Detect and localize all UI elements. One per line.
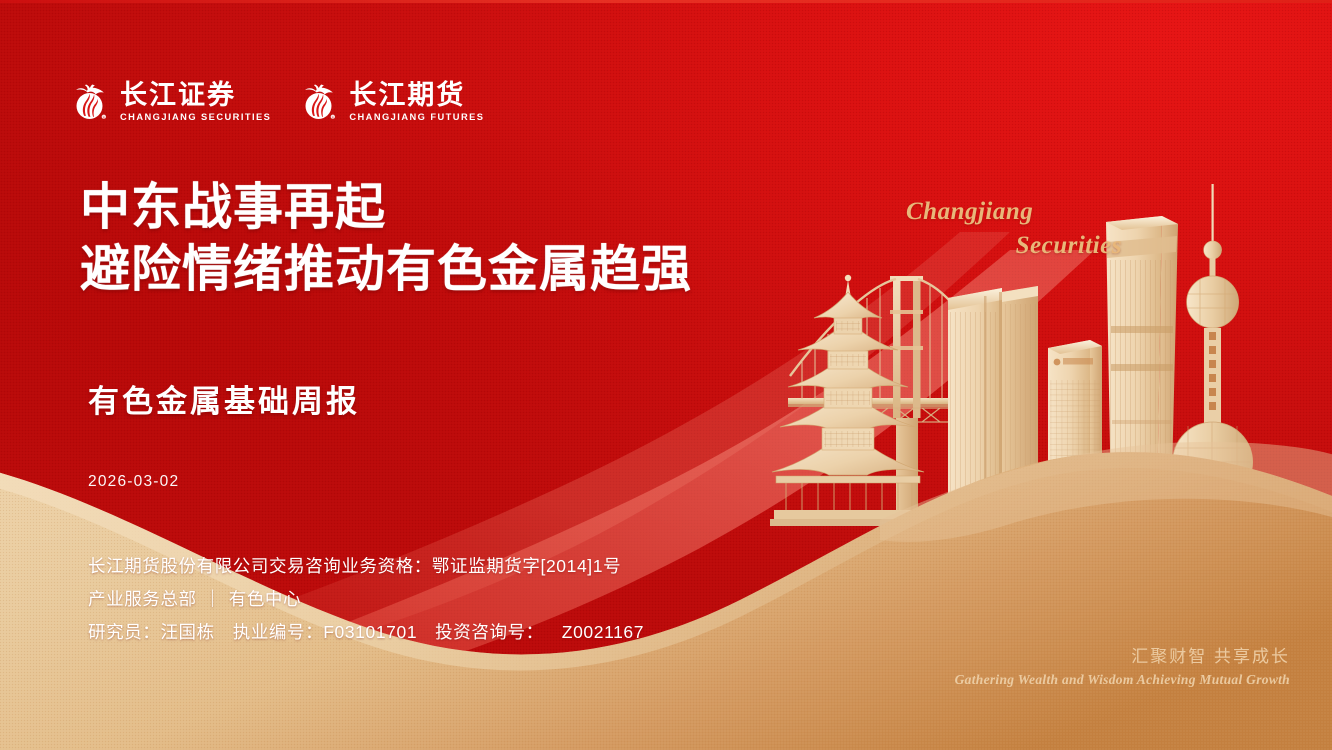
meta-center: 有色中心 bbox=[229, 589, 301, 609]
logo-name-cn: 长江期货 bbox=[349, 81, 484, 109]
svg-text:R: R bbox=[332, 116, 334, 120]
meta-license-no: F03101701 bbox=[323, 622, 417, 642]
meta-consult-no: Z0021167 bbox=[562, 622, 644, 642]
meta-separator: ｜ bbox=[197, 589, 229, 609]
logo-name-en: CHANGJIANG SECURITIES bbox=[120, 112, 271, 122]
tagline-cn: 汇聚财智 共享成长 bbox=[870, 645, 1290, 669]
title-line-1: 中东战事再起 bbox=[80, 176, 910, 238]
meta-researcher-line: 研究员：汪国栋执业编号：F03101701投资咨询号：Z0021167 bbox=[88, 616, 848, 649]
logo-name-cn: 长江证券 bbox=[120, 81, 271, 109]
report-subtitle: 有色金属基础周报 bbox=[88, 376, 360, 421]
logo-text-block: 长江证券 CHANGJIANG SECURITIES bbox=[120, 81, 271, 123]
meta-department-line: 产业服务总部｜有色中心 bbox=[88, 583, 848, 616]
changjiang-securities-script-brand: Changjiang Securities bbox=[900, 195, 1130, 261]
title-line-2: 避险情绪推动有色金属趋强 bbox=[80, 238, 910, 300]
report-meta-block: 长江期货股份有限公司交易咨询业务资格：鄂证监期货字[2014]1号 产业服务总部… bbox=[88, 550, 848, 649]
meta-qualification-text: 长江期货股份有限公司交易咨询业务资格：鄂证监期货字[2014]1号 bbox=[88, 556, 621, 576]
script-brand-line-1: Changjiang bbox=[900, 195, 1130, 229]
logo-changjiang-securities[interactable]: R 长江证券 CHANGJIANG SECURITIES bbox=[68, 80, 271, 123]
meta-consult-label: 投资咨询号： bbox=[435, 622, 544, 642]
meta-license-label: 执业编号： bbox=[233, 622, 324, 642]
logo-name-en: CHANGJIANG FUTURES bbox=[349, 112, 484, 122]
logo-text-block: 长江期货 CHANGJIANG FUTURES bbox=[349, 81, 484, 123]
company-tagline: 汇聚财智 共享成长 Gathering Wealth and Wisdom Ac… bbox=[870, 645, 1290, 691]
tagline-en: Gathering Wealth and Wisdom Achieving Mu… bbox=[870, 669, 1290, 691]
script-brand-line-2: Securities bbox=[900, 229, 1130, 263]
changjiang-flame-logo-icon: R bbox=[297, 80, 340, 123]
report-date: 2026-03-02 bbox=[88, 473, 179, 491]
report-cover-slide: R 长江证券 CHANGJIANG SECURITIES R 长江期货 bbox=[0, 0, 1332, 750]
changjiang-flame-logo-icon: R bbox=[68, 80, 111, 123]
meta-department: 产业服务总部 bbox=[88, 589, 197, 609]
brand-logo-row: R 长江证券 CHANGJIANG SECURITIES R 长江期货 bbox=[68, 80, 484, 123]
svg-text:R: R bbox=[103, 116, 105, 120]
meta-researcher-name: 汪国栋 bbox=[160, 622, 214, 642]
logo-changjiang-futures[interactable]: R 长江期货 CHANGJIANG FUTURES bbox=[297, 80, 484, 123]
meta-researcher-label: 研究员： bbox=[88, 622, 160, 642]
meta-qualification-line: 长江期货股份有限公司交易咨询业务资格：鄂证监期货字[2014]1号 bbox=[88, 550, 848, 583]
report-title-block: 中东战事再起 避险情绪推动有色金属趋强 bbox=[80, 176, 910, 300]
